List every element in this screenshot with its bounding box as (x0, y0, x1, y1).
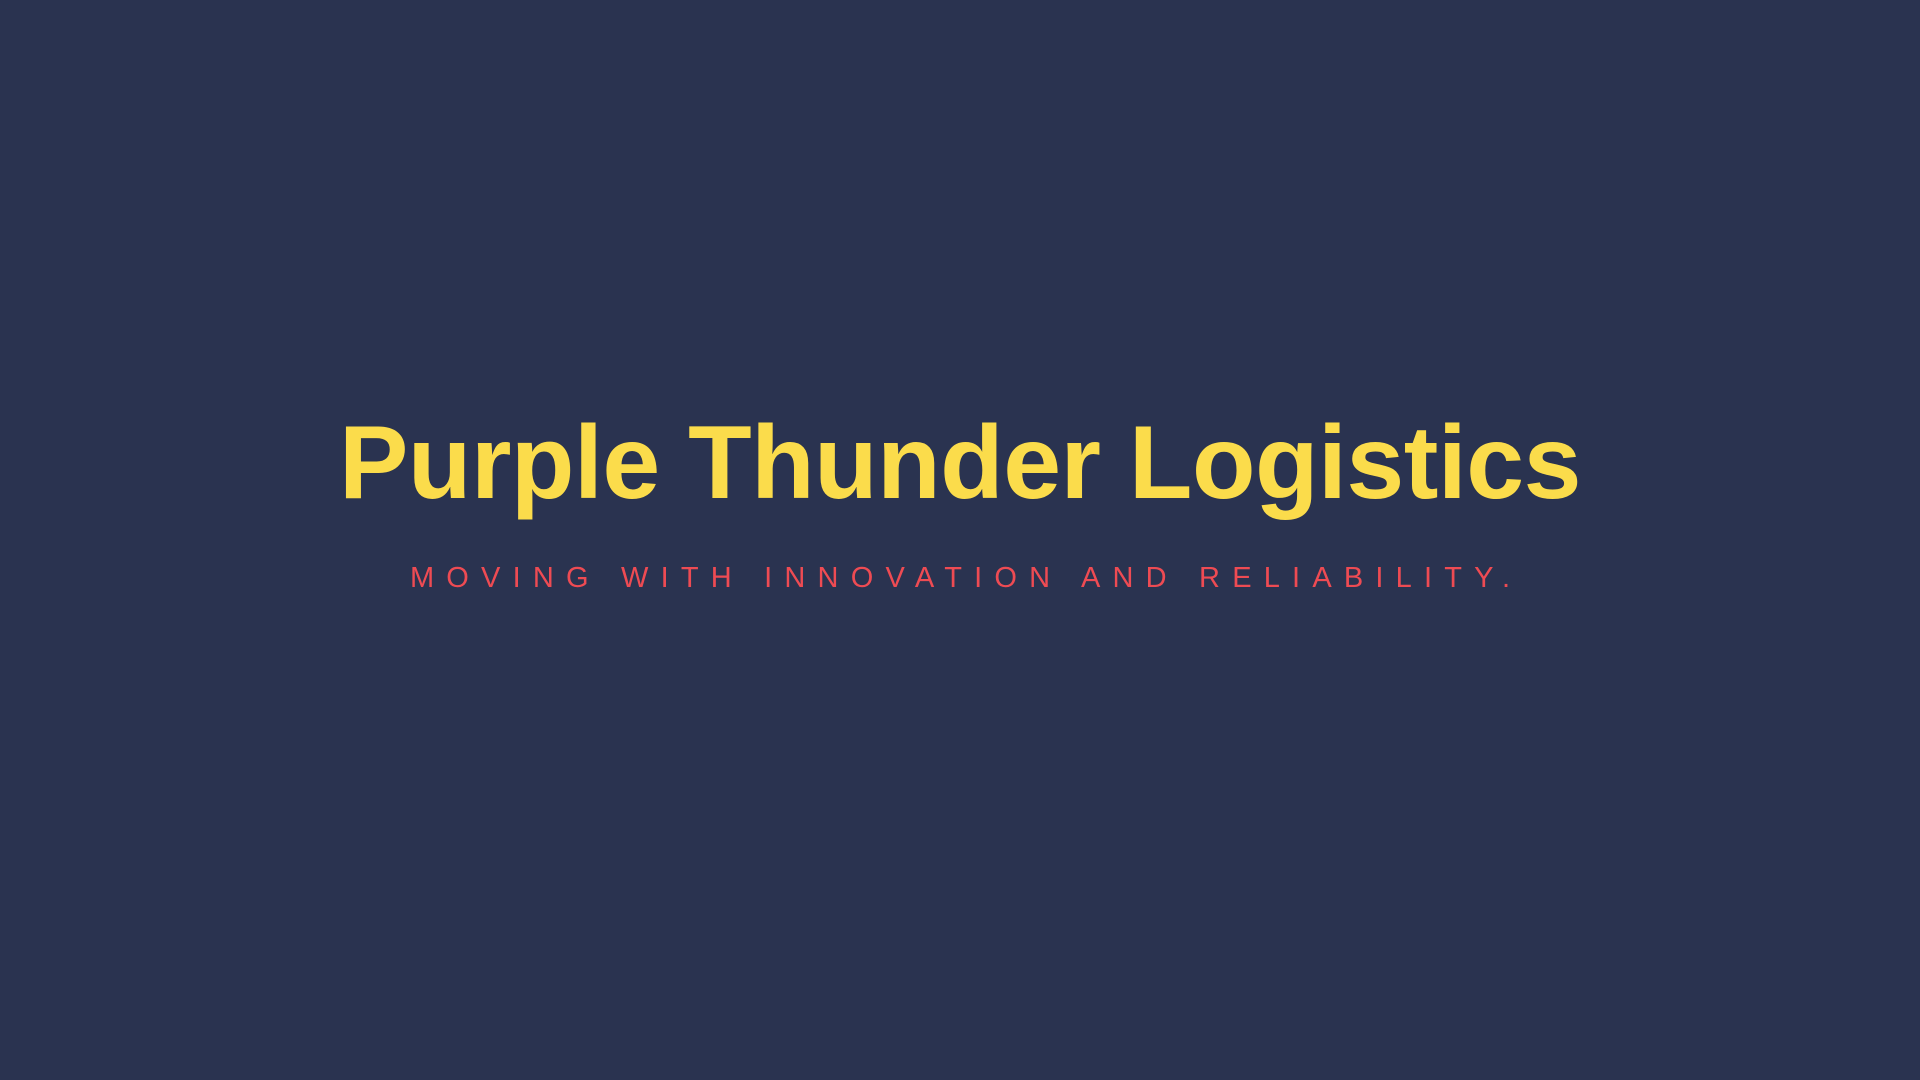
page-subtitle: MOVING WITH INNOVATION AND RELIABILITY. (398, 561, 1522, 596)
page-title: Purple Thunder Logistics (339, 408, 1581, 518)
title-slide: Purple Thunder Logistics MOVING WITH INN… (0, 0, 1920, 1080)
hero-text-block: Purple Thunder Logistics MOVING WITH INN… (0, 408, 1920, 595)
